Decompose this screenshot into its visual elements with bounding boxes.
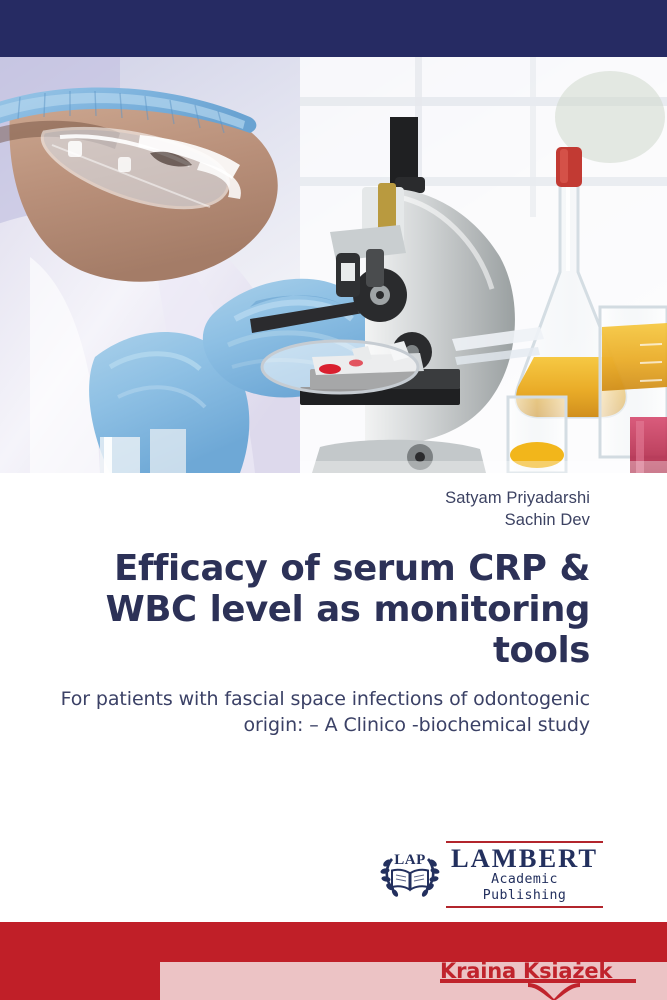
watermark-book-underline: [440, 979, 667, 1000]
lap-laurel-book-icon: LAP: [378, 846, 442, 902]
book-title: Efficacy of serum CRP & WBC level as mon…: [0, 548, 667, 671]
kraina-ksiazek-watermark: Kraina Książek: [440, 959, 667, 1000]
author-list: Satyam Priyadarshi Sachin Dev: [0, 487, 667, 531]
author-name: Sachin Dev: [0, 509, 590, 531]
author-name: Satyam Priyadarshi: [0, 487, 590, 509]
top-navy-band: [0, 0, 667, 57]
book-cover: Satyam Priyadarshi Sachin Dev Efficacy o…: [0, 0, 667, 1000]
cover-photo: [0, 57, 667, 473]
publisher-tagline: Academic Publishing: [446, 872, 603, 906]
publisher-name: LAMBERT: [446, 843, 603, 872]
logo-rule-bottom: [446, 906, 603, 908]
book-subtitle: For patients with fascial space infectio…: [0, 686, 667, 738]
publisher-wordmark: LAMBERT Academic Publishing: [446, 840, 603, 908]
svg-text:LAP: LAP: [394, 852, 426, 868]
publisher-logo: LAP LAMBERT Academic Publishing: [378, 845, 603, 903]
